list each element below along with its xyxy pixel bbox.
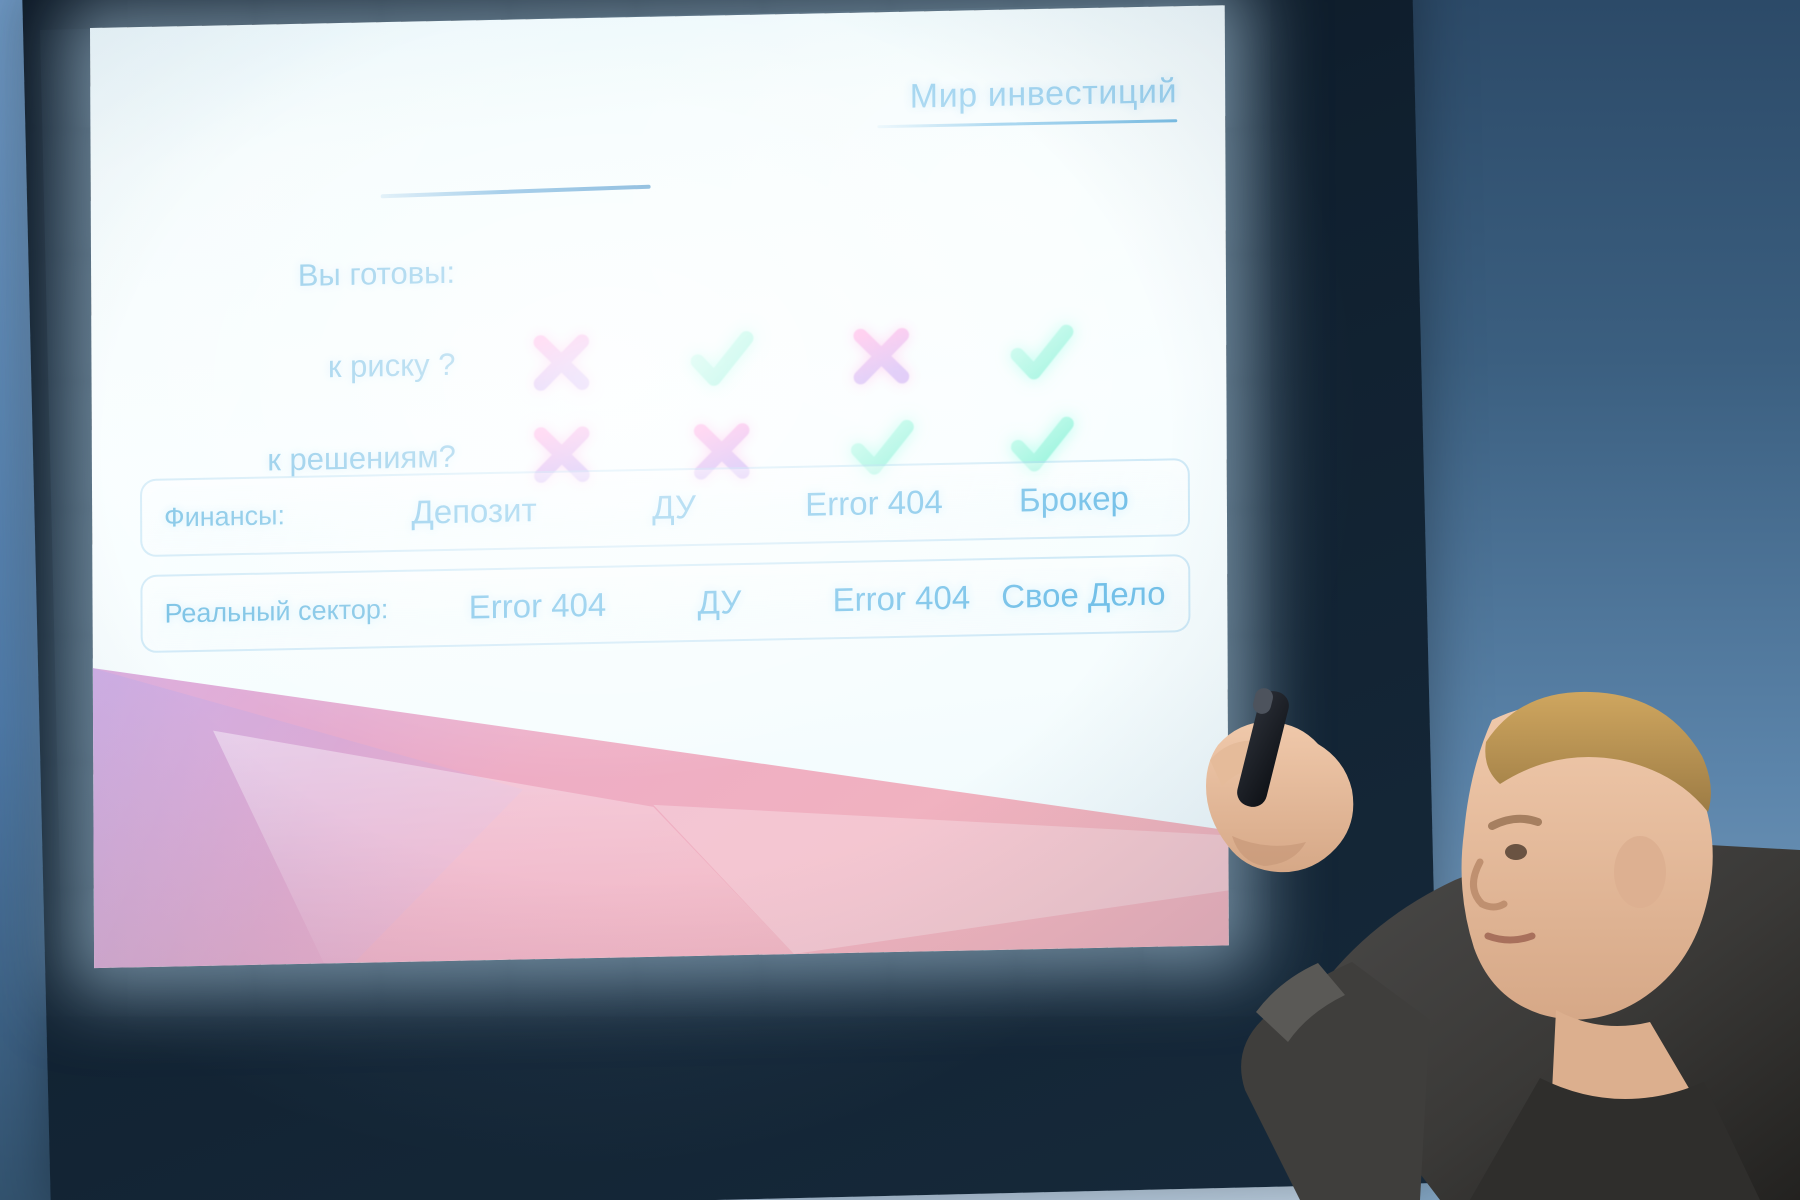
page-title: Мир инвестиций bbox=[877, 72, 1177, 117]
pill-value: Брокер bbox=[974, 478, 1174, 520]
cross-icon bbox=[844, 318, 918, 393]
pill-value: Свое Дело bbox=[992, 574, 1174, 616]
row-marks-risk bbox=[481, 313, 1181, 401]
cross-icon bbox=[524, 325, 598, 400]
mark-cell bbox=[641, 321, 801, 398]
pill-value: Error 404 bbox=[810, 578, 992, 620]
option-pill-rows: Финансы: Депозит ДУ Error 404 Брокер Реа… bbox=[140, 458, 1191, 671]
screenshot-stage: Мир инвестиций Вы готовы: к риску ? bbox=[0, 0, 1800, 1200]
matrix-spacer-cell bbox=[481, 269, 641, 272]
pill-value: ДУ bbox=[574, 486, 774, 528]
pill-label-real-sector: Реальный сектор: bbox=[164, 593, 436, 629]
mark-cell bbox=[801, 318, 961, 395]
slide-header: Мир инвестиций bbox=[877, 72, 1177, 128]
pill-value: Error 404 bbox=[774, 482, 974, 524]
mark-cell bbox=[481, 324, 641, 401]
matrix-spacer-cell bbox=[961, 259, 1121, 262]
pill-values-real-sector: Error 404 ДУ Error 404 Свое Дело bbox=[446, 574, 1174, 627]
mark-cell bbox=[961, 314, 1121, 391]
row-label-risk: к риску ? bbox=[151, 346, 481, 389]
header-divider bbox=[877, 119, 1177, 128]
check-icon bbox=[684, 322, 758, 397]
check-icon bbox=[1004, 315, 1078, 390]
pill-value: Error 404 bbox=[446, 585, 628, 627]
pill-row-real-sector: Реальный сектор: Error 404 ДУ Error 404 … bbox=[140, 554, 1190, 653]
pill-value: ДУ bbox=[628, 582, 810, 624]
question-label: Вы готовы: bbox=[151, 254, 481, 297]
pill-value: Депозит bbox=[374, 490, 574, 532]
matrix-spacer-cell bbox=[641, 266, 801, 269]
matrix-question-spacer bbox=[481, 258, 1181, 272]
matrix-spacer-cell bbox=[801, 263, 961, 266]
projected-slide: Мир инвестиций Вы готовы: к риску ? bbox=[90, 5, 1229, 968]
pill-label-finance: Финансы: bbox=[164, 498, 364, 533]
pill-values-finance: Депозит ДУ Error 404 Брокер bbox=[374, 478, 1174, 532]
accent-divider bbox=[381, 185, 651, 199]
